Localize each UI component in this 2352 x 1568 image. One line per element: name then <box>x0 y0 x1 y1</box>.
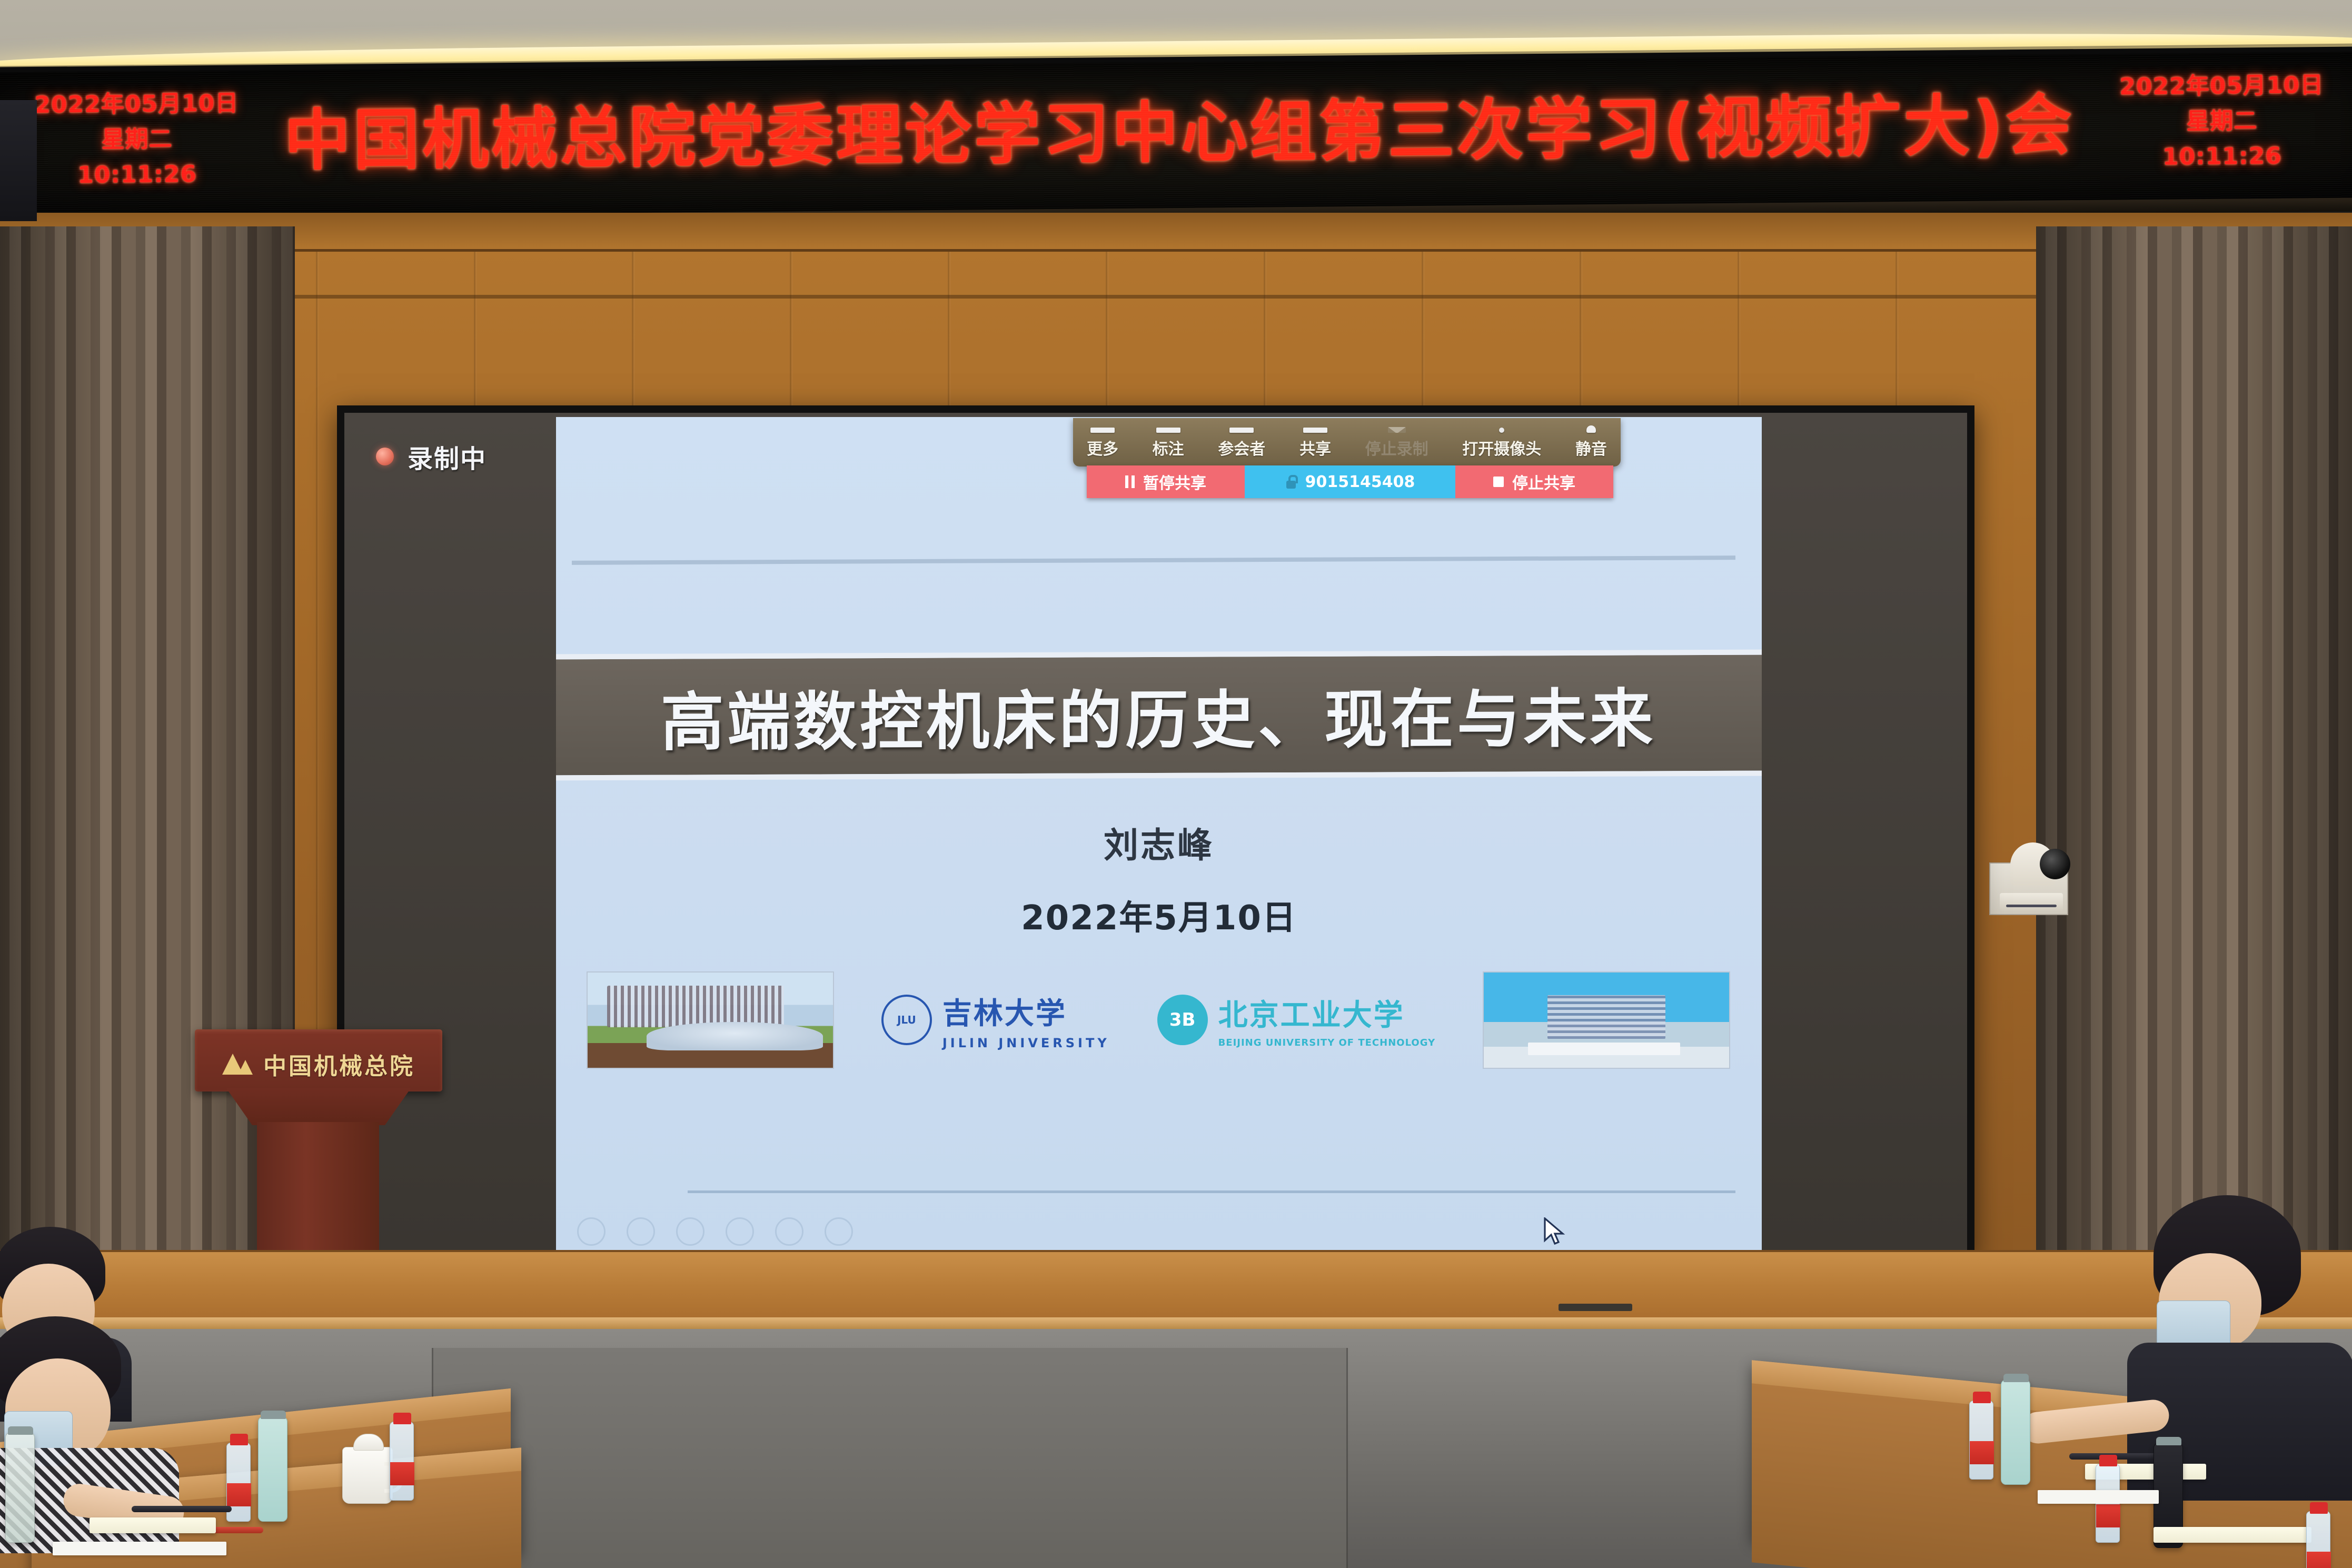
led-right-date: 2022年05月10日 <box>2074 67 2352 105</box>
lock-icon <box>1285 475 1297 489</box>
left-thermos <box>258 1416 287 1522</box>
toolbar-button-stop-record[interactable]: 停止录制 <box>1365 427 1428 459</box>
annotate-icon <box>1156 428 1180 433</box>
stop-share-button[interactable]: 停止共享 <box>1455 465 1613 498</box>
slide-title: 高端数控机床的历史、现在与未来 <box>661 667 1656 762</box>
camera-lens-icon <box>2040 849 2070 879</box>
right-water-bottle-1 <box>1969 1401 1993 1480</box>
led-banner-display: 2022年05月10日 星期二 10:11:26 中国机械总院党委理论学习中心组… <box>0 52 2352 225</box>
jilin-name-en: JILIN JNIVERSITY <box>942 1036 1110 1050</box>
attendee-right <box>2148 1195 2352 1458</box>
stage-front-panel <box>0 1250 2352 1322</box>
bjut-name-cn: 北京工业大学 <box>1218 991 1436 1034</box>
floor-speaker <box>0 100 37 221</box>
podium-neck <box>226 1088 411 1125</box>
bjut-name-en: BEIJING UNIVERSITY OF TECHNOLOGY <box>1218 1037 1436 1048</box>
right-paper <box>2038 1490 2159 1504</box>
participants-icon <box>1229 428 1254 433</box>
toolbar-label-mute: 静音 <box>1575 436 1607 459</box>
share-control-bar[interactable]: 暂停共享 9015145408 停止共享 <box>1087 465 1613 498</box>
camera-icon <box>1499 428 1504 433</box>
zoom-icon[interactable] <box>775 1217 803 1246</box>
toolbar-button-camera[interactable]: 打开摄像头 <box>1462 428 1541 459</box>
wall-top-band <box>0 213 2352 252</box>
microphone-icon <box>1586 425 1596 433</box>
recording-dot-icon <box>376 448 394 465</box>
pen-icon[interactable] <box>676 1217 704 1246</box>
toolbar-button-participants[interactable]: 参会者 <box>1218 428 1265 459</box>
toolbar-button-mute[interactable]: 静音 <box>1575 425 1607 459</box>
left-notebook <box>90 1517 216 1533</box>
toolbar-label-annotate: 标注 <box>1153 436 1184 459</box>
toolbar-button-share[interactable]: 共享 <box>1299 428 1331 459</box>
ptz-camera-icon <box>1989 842 2068 916</box>
camera-head <box>2010 842 2056 886</box>
stop-icon <box>1493 477 1504 487</box>
podium-organization-name: 中国机械总院 <box>263 1047 415 1081</box>
left-tumbler <box>5 1432 35 1543</box>
led-right-datetime: 2022年05月10日 星期二 10:11:26 <box>2074 67 2352 176</box>
led-right-time: 10:11:26 <box>2075 138 2352 176</box>
meeting-id-label: 9015145408 <box>1305 473 1415 491</box>
jilin-name-cn: 吉林大学 <box>942 990 1110 1033</box>
led-headline: 中国机械总院党委理论学习中心组第三次学习(视频扩大)会 <box>0 90 2352 177</box>
podium-body <box>257 1122 379 1254</box>
projection-screen[interactable]: 录制中 更多 标注 参会者 <box>337 405 1974 1258</box>
right-water-bottle-3 <box>2306 1511 2330 1568</box>
bjut-university-names: 北京工业大学 BEIJING UNIVERSITY OF TECHNOLOGY <box>1218 991 1436 1048</box>
jilin-university-names: 吉林大学 JILIN JNIVERSITY <box>942 990 1110 1050</box>
recording-label: 录制中 <box>408 438 487 475</box>
more-dots-icon <box>1090 428 1115 433</box>
pointer-icon[interactable] <box>577 1217 606 1246</box>
toolbar-label-share: 共享 <box>1299 436 1331 459</box>
podium: 中国机械总院 <box>195 1029 442 1251</box>
play-icon[interactable] <box>627 1217 655 1246</box>
left-water-bottle-2 <box>390 1422 414 1501</box>
projection-screen-surface: 录制中 更多 标注 参会者 <box>344 413 1967 1251</box>
jilin-campus-photo <box>587 971 834 1069</box>
toolbar-label-participants: 参会者 <box>1218 436 1265 459</box>
slide-top-rule <box>572 555 1735 565</box>
camera-base <box>2000 893 2063 911</box>
menu-icon[interactable] <box>825 1217 853 1246</box>
stop-share-label: 停止共享 <box>1512 470 1575 493</box>
left-teacup <box>342 1447 393 1504</box>
slide-bottom-rule <box>688 1190 1735 1193</box>
podium-top: 中国机械总院 <box>195 1029 442 1091</box>
left-pen-black <box>132 1506 232 1512</box>
right-thermos-mint <box>2001 1380 2030 1485</box>
slide-date: 2022年5月10日 <box>556 891 1762 939</box>
jilin-seal-icon: JLU <box>881 995 932 1045</box>
slide-title-band: 高端数控机床的历史、现在与未来 <box>556 650 1762 781</box>
share-icon <box>1303 428 1327 433</box>
recording-indicator: 录制中 <box>376 438 487 475</box>
stop-record-icon <box>1388 427 1406 433</box>
conference-room-scene: 2022年05月10日 星期二 10:11:26 中国机械总院党委理论学习中心组… <box>0 0 2352 1568</box>
pause-share-label: 暂停共享 <box>1143 470 1206 493</box>
toolbar-label-camera: 打开摄像头 <box>1462 436 1541 459</box>
slide-logo-row: JLU 吉林大学 JILIN JNIVERSITY 3B 北京工业大学 BEIJ… <box>574 970 1743 1070</box>
right-notebook-2 <box>2153 1527 2311 1543</box>
led-right-weekday: 星期二 <box>2075 103 2352 141</box>
jilin-university-logo: JLU 吉林大学 JILIN JNIVERSITY <box>881 990 1110 1050</box>
pause-share-button[interactable]: 暂停共享 <box>1087 465 1245 498</box>
toolbar-label-more: 更多 <box>1087 436 1118 459</box>
wall-mid-line <box>0 295 2352 299</box>
bjut-university-logo: 3B 北京工业大学 BEIJING UNIVERSITY OF TECHNOLO… <box>1157 991 1436 1048</box>
annotation-tool-row[interactable] <box>577 1217 853 1246</box>
bjut-campus-photo <box>1483 971 1730 1069</box>
toolbar-button-annotate[interactable]: 标注 <box>1153 428 1184 459</box>
floor-center-panel <box>432 1348 1348 1568</box>
pause-icon <box>1125 475 1135 488</box>
meeting-toolbar[interactable]: 更多 标注 参会者 共享 <box>1073 418 1621 467</box>
left-paper <box>53 1542 226 1555</box>
mountain-logo-icon <box>222 1054 252 1075</box>
slideshow-icon[interactable] <box>726 1217 754 1246</box>
toolbar-label-stop-record: 停止录制 <box>1365 436 1428 459</box>
bjut-seal-icon: 3B <box>1157 995 1208 1045</box>
toolbar-button-more[interactable]: 更多 <box>1087 428 1118 459</box>
meeting-id-display[interactable]: 9015145408 <box>1245 465 1455 498</box>
curtain-right <box>2036 226 2352 1348</box>
podium-sign: 中国机械总院 <box>195 1047 442 1081</box>
stage-floor-vent <box>1559 1304 1632 1311</box>
slide-presenter-name: 刘志峰 <box>556 817 1762 868</box>
shared-slide-area: 更多 标注 参会者 共享 <box>556 417 1762 1251</box>
